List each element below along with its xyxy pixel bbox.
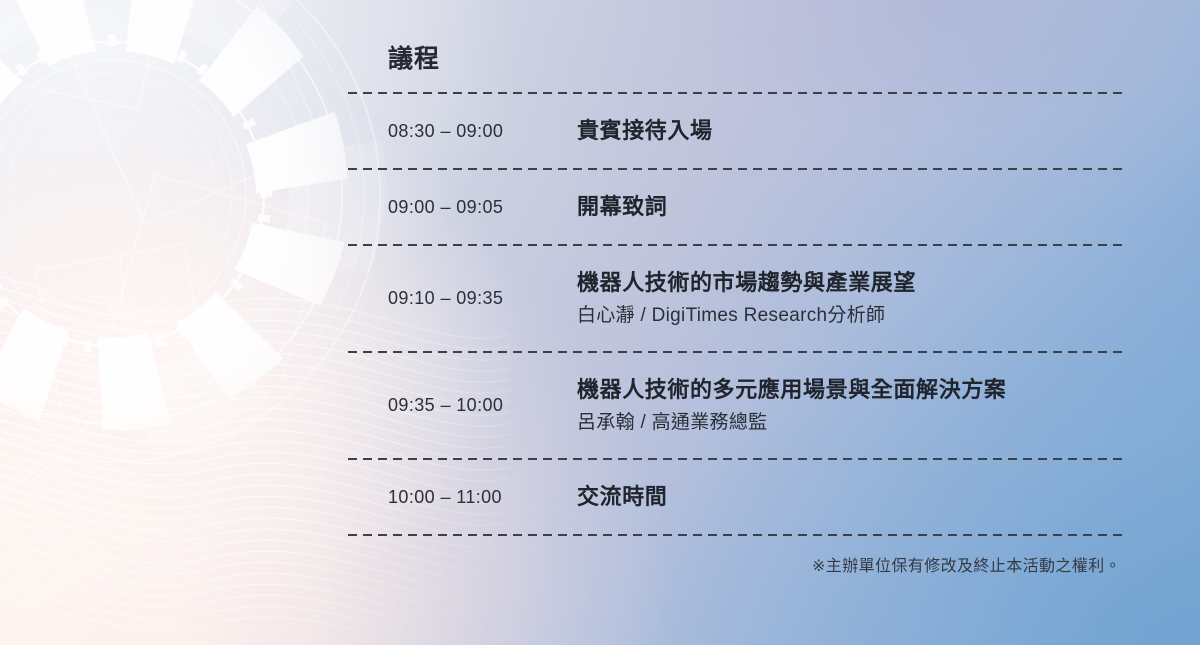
agenda-row[interactable]: 09:10 – 09:35 機器人技術的市場趨勢與產業展望 白心瀞 / Digi… bbox=[348, 246, 1123, 351]
agenda-row-time: 08:30 – 09:00 bbox=[388, 121, 553, 142]
agenda-row[interactable]: 09:00 – 09:05 開幕致詞 bbox=[348, 170, 1123, 244]
agenda-row-time: 09:35 – 10:00 bbox=[388, 395, 553, 416]
agenda-row-topic: 機器人技術的市場趨勢與產業展望 bbox=[577, 268, 1123, 298]
agenda-row-body: 貴賓接待入場 bbox=[553, 116, 1123, 146]
agenda-row[interactable]: 09:35 – 10:00 機器人技術的多元應用場景與全面解決方案 呂承翰 / … bbox=[348, 353, 1123, 458]
agenda-row-body: 機器人技術的市場趨勢與產業展望 白心瀞 / DigiTimes Research… bbox=[553, 268, 1123, 329]
agenda-row[interactable]: 08:30 – 09:00 貴賓接待入場 bbox=[348, 94, 1123, 168]
divider bbox=[348, 534, 1123, 536]
agenda-row-time: 09:10 – 09:35 bbox=[388, 288, 553, 309]
page-title: 議程 bbox=[388, 44, 1123, 74]
agenda-row-time: 09:00 – 09:05 bbox=[388, 197, 553, 218]
agenda-row-speaker: 呂承翰 / 高通業務總監 bbox=[577, 409, 1123, 437]
agenda-row[interactable]: 10:00 – 11:00 交流時間 bbox=[348, 460, 1123, 534]
slide-canvas: 議程 08:30 – 09:00 貴賓接待入場 09:00 – 09:05 開幕… bbox=[0, 0, 1200, 645]
agenda-row-body: 機器人技術的多元應用場景與全面解決方案 呂承翰 / 高通業務總監 bbox=[553, 375, 1123, 436]
agenda-row-topic: 開幕致詞 bbox=[577, 192, 1123, 222]
agenda-row-speaker: 白心瀞 / DigiTimes Research分析師 bbox=[577, 302, 1123, 330]
agenda-row-topic: 交流時間 bbox=[577, 482, 1123, 512]
agenda-row-topic: 貴賓接待入場 bbox=[577, 116, 1123, 146]
agenda-row-body: 交流時間 bbox=[553, 482, 1123, 512]
agenda-row-body: 開幕致詞 bbox=[553, 192, 1123, 222]
agenda-row-topic: 機器人技術的多元應用場景與全面解決方案 bbox=[577, 375, 1123, 405]
agenda-panel: 議程 08:30 – 09:00 貴賓接待入場 09:00 – 09:05 開幕… bbox=[348, 44, 1123, 576]
agenda-row-time: 10:00 – 11:00 bbox=[388, 487, 553, 508]
disclaimer-note: ※主辦單位保有修改及終止本活動之權利。 bbox=[348, 552, 1123, 576]
